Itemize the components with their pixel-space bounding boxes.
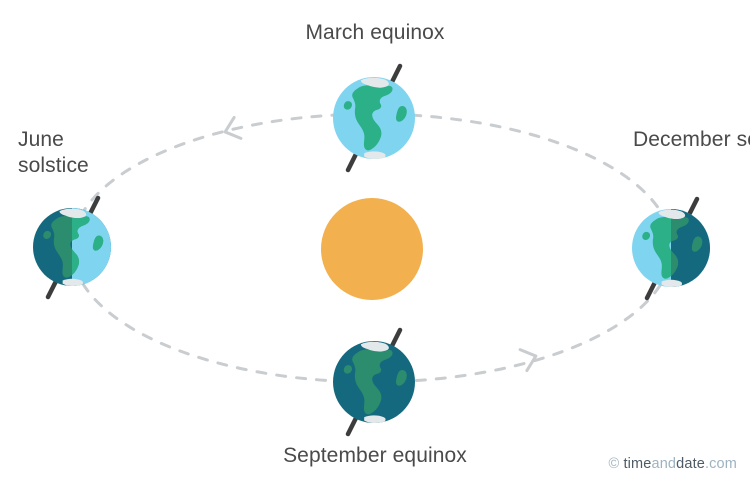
label-december-solstice: December solstice xyxy=(633,127,750,153)
sun xyxy=(321,198,423,300)
copyright-symbol: © xyxy=(608,456,619,472)
orbit-arrow-upper-left xyxy=(222,117,241,142)
earth-june-solstice xyxy=(33,198,114,297)
watermark-time: time xyxy=(623,456,651,472)
earth-december-solstice xyxy=(632,199,713,298)
watermark-timeanddate: © timeanddate.com xyxy=(608,456,737,472)
earth-march-equinox xyxy=(333,66,415,170)
watermark-and: and xyxy=(651,456,676,472)
earth-september-equinox xyxy=(333,330,415,434)
seasons-diagram: March equinox June solstice December sol… xyxy=(0,0,750,500)
watermark-date: date xyxy=(676,456,705,472)
diagram-canvas xyxy=(0,0,750,500)
label-june-solstice: June solstice xyxy=(18,127,89,179)
orbit-arrow-lower-right xyxy=(520,346,539,371)
label-march-equinox: March equinox xyxy=(0,20,750,46)
watermark-dotcom: .com xyxy=(705,456,737,472)
